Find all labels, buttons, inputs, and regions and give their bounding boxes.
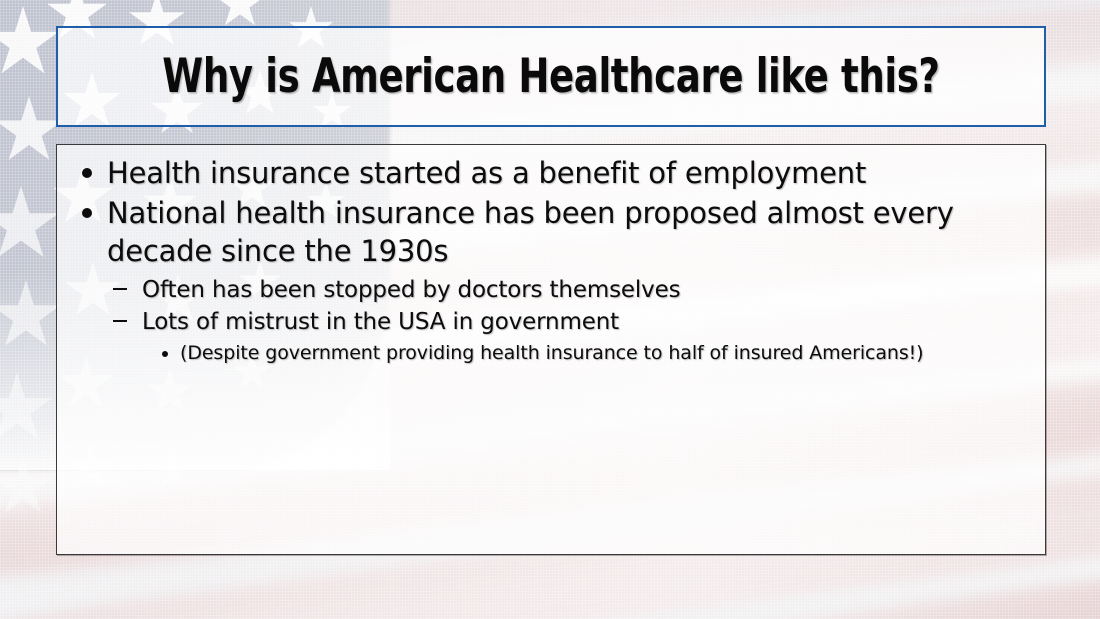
slide-title-box: Why is American Healthcare like this? bbox=[56, 26, 1046, 127]
bullet-text: Lots of mistrust in the USA in governmen… bbox=[142, 309, 619, 335]
bullet-list-level-2: Often has been stopped by doctors themse… bbox=[69, 275, 1029, 366]
dash-bullet-icon bbox=[113, 288, 127, 290]
bullet-list-level-3: (Despite government providing health ins… bbox=[111, 341, 1029, 367]
bullet-text: (Despite government providing health ins… bbox=[180, 342, 923, 364]
slide-content-box: Health insurance started as a benefit of… bbox=[56, 144, 1046, 555]
bullet-text: Often has been stopped by doctors themse… bbox=[142, 277, 680, 303]
presentation-slide: Why is American Healthcare like this? He… bbox=[0, 0, 1100, 619]
list-item: (Despite government providing health ins… bbox=[155, 341, 1029, 367]
list-item: Lots of mistrust in the USA in governmen… bbox=[111, 307, 1029, 338]
list-item: Often has been stopped by doctors themse… bbox=[111, 275, 1029, 306]
small-round-bullet-icon bbox=[162, 351, 168, 357]
bullet-list-level-1: Health insurance started as a benefit of… bbox=[69, 155, 1029, 366]
bullet-text: Health insurance started as a benefit of… bbox=[107, 156, 866, 190]
page-title: Why is American Healthcare like this? bbox=[162, 53, 939, 100]
bullet-text: National health insurance has been propo… bbox=[107, 196, 954, 268]
list-item: National health insurance has been propo… bbox=[69, 195, 1029, 271]
round-bullet-icon bbox=[82, 168, 92, 178]
dash-bullet-icon bbox=[113, 320, 127, 322]
round-bullet-icon bbox=[82, 208, 92, 218]
list-item: Health insurance started as a benefit of… bbox=[69, 155, 1029, 193]
